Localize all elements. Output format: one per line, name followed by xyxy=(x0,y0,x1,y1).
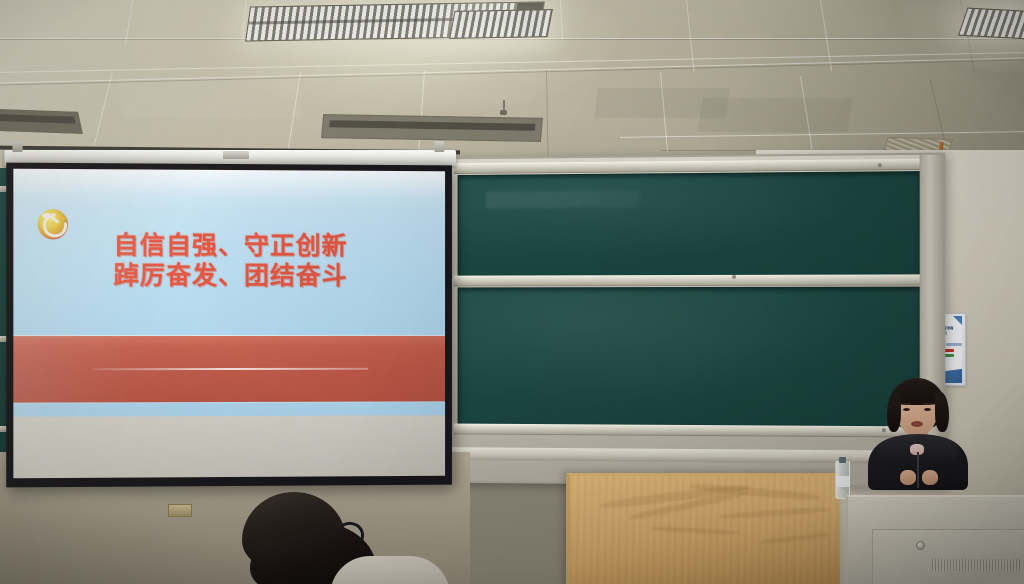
classroom-photo-scene: 操作规程 突发事件应急处置流程 xyxy=(0,0,1024,584)
chalkboard-screw xyxy=(732,275,736,279)
suspended-ceiling xyxy=(0,0,1024,172)
speaker-at-podium xyxy=(862,378,974,488)
chalkboard-bottom-rail xyxy=(454,424,927,438)
ceiling-tile xyxy=(116,78,303,118)
screen-bracket xyxy=(12,141,22,152)
flowchart-node xyxy=(946,343,962,346)
slide-red-band xyxy=(13,336,445,403)
presenter-hair-right xyxy=(935,392,949,432)
presenter-jacket-zipper xyxy=(917,452,919,488)
slide-band-rule xyxy=(92,368,368,370)
bottle-cap xyxy=(839,457,846,463)
console-lock-icon[interactable] xyxy=(916,541,925,550)
poster-corner-accent-icon xyxy=(953,316,962,325)
presenter-eyebrow xyxy=(902,403,911,405)
projected-slide: 自信自强、守正创新 踔厉奋发、团结奋斗 2022年12月2日 xyxy=(13,169,445,417)
screen-center-mount xyxy=(223,151,249,159)
light-louvers xyxy=(450,10,551,38)
light-dark-tube xyxy=(0,113,76,123)
wooden-lectern xyxy=(566,473,840,584)
chalkboard-middle-rail xyxy=(454,274,927,286)
presenter-right-hand xyxy=(922,470,938,485)
sprinkler-head xyxy=(500,110,507,115)
ceiling-seam xyxy=(0,39,1024,40)
screen-bracket xyxy=(434,141,444,152)
presenter-hair-left xyxy=(887,392,901,432)
ceiling-light-fixture-left xyxy=(0,108,83,134)
chalkboard-panel-lower xyxy=(458,287,921,429)
slide-top-highlight xyxy=(13,169,445,211)
wood-grain xyxy=(650,526,740,536)
teaching-console-cabinet[interactable] xyxy=(846,495,1024,584)
slide-date: 2022年12月2日 xyxy=(13,412,445,416)
wood-grain xyxy=(760,532,830,544)
slide-title-line-1: 自信自强、守正创新 xyxy=(13,231,445,261)
console-door[interactable] xyxy=(872,529,1024,584)
light-louvers xyxy=(959,9,1024,40)
chalkboard-panel-upper xyxy=(458,171,921,278)
ceiling-light-fixture-right xyxy=(958,8,1024,41)
presenter-eyebrow xyxy=(923,403,932,405)
bottle-label xyxy=(836,476,849,487)
chalk-residue xyxy=(486,191,641,208)
presenter-eye xyxy=(903,408,910,411)
ceiling-light-fixture-center-low xyxy=(321,114,543,142)
ceiling-tile xyxy=(697,98,853,132)
presenter-mouth xyxy=(911,421,923,427)
ceiling-light-fixture-main-ext xyxy=(449,9,553,39)
chalkboard-screw xyxy=(878,163,882,167)
presenter-eye xyxy=(924,408,931,411)
slide-title-line-2: 踔厉奋发、团结奋斗 xyxy=(13,261,445,290)
projector-screen-surface: 自信自强、守正创新 踔厉奋发、团结奋斗 2022年12月2日 xyxy=(13,169,445,479)
presenter-left-hand xyxy=(900,470,916,485)
screen-wall-hook xyxy=(168,504,192,517)
light-dark-tube xyxy=(329,120,535,131)
water-bottle[interactable] xyxy=(835,461,850,499)
chalk-tray xyxy=(452,447,933,464)
projector-screen-black-border: 自信自强、守正创新 踔厉奋发、团结奋斗 2022年12月2日 xyxy=(6,163,452,488)
wood-grain xyxy=(720,506,830,520)
console-vent-grille xyxy=(932,559,1020,571)
